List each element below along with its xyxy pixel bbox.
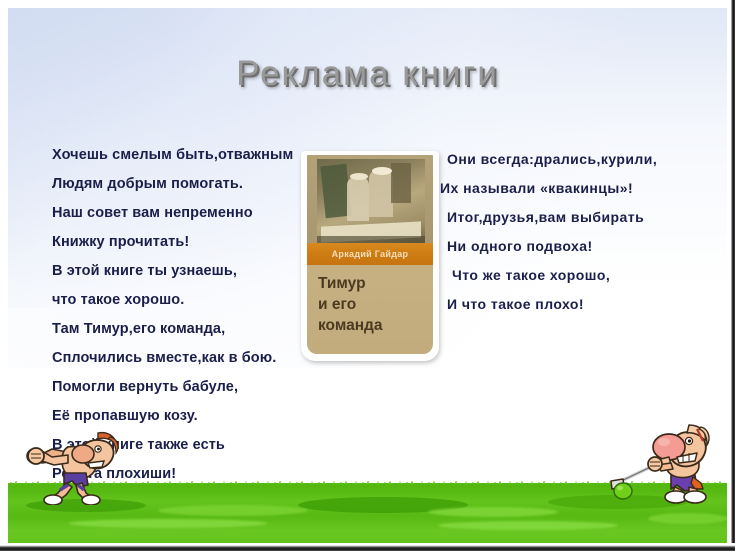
grass-patch — [68, 519, 268, 528]
book-cover-illustration — [307, 155, 433, 248]
poem-right-column: Они всегда:дрались,курили, Их называли «… — [440, 145, 720, 319]
poem-line: Что же такое хорошо, — [440, 261, 720, 290]
book-title: Тимур и его команда — [318, 273, 430, 336]
poem-line: Сплочились вместе,как в бою. — [52, 344, 324, 373]
poem-line: И что такое плохо! — [440, 290, 720, 319]
book-title-line: команда — [318, 315, 430, 336]
poem-line: Их называли «квакинцы»! — [440, 174, 720, 203]
grass-patch — [438, 521, 618, 530]
book-title-line: и его — [318, 294, 430, 315]
poem-line: Ни одного подвоха! — [440, 232, 720, 261]
book-cover: Аркадий Гайдар Тимур и его команда — [307, 155, 433, 354]
book-author-name: Аркадий Гайдар — [332, 249, 409, 259]
poem-line: Хочешь смелым быть,отважным — [52, 141, 324, 170]
grass-patch — [428, 507, 558, 517]
slide-canvas: Реклама книги Хочешь смелым быть,отважны… — [8, 8, 727, 543]
illustration-shape — [391, 163, 411, 203]
slide-frame-right-edge — [729, 0, 735, 551]
grass-patch — [648, 513, 727, 524]
page-title: Реклама книги — [8, 54, 727, 94]
illustration-hat — [350, 173, 368, 180]
book-cover-image[interactable]: Аркадий Гайдар Тимур и его команда — [301, 151, 439, 361]
slide-frame-bottom-edge — [0, 543, 735, 551]
illustration-scene — [317, 159, 425, 246]
slide-frame-top — [0, 0, 735, 8]
grass-patch — [158, 505, 308, 516]
poem-line: что такое хорошо. — [52, 286, 324, 315]
illustration-figure — [347, 177, 369, 221]
cartoon-golfer-icon — [597, 421, 719, 507]
poem-line: Помогли вернуть бабуле, — [52, 373, 324, 402]
poem-line: Наш совет вам непременно — [52, 199, 324, 228]
poem-line: В этой книге ты узнаешь, — [52, 257, 324, 286]
slide-frame-left — [0, 0, 8, 551]
poem-line: Там Тимур,его команда, — [52, 315, 324, 344]
illustration-hat — [372, 167, 392, 175]
book-author-band: Аркадий Гайдар — [307, 243, 433, 265]
illustration-figure — [369, 169, 393, 217]
slide: Реклама книги Хочешь смелым быть,отважны… — [0, 0, 735, 551]
poem-line: Людям добрым помогать. — [52, 170, 324, 199]
poem-line: Книжку прочитать! — [52, 228, 324, 257]
poem-line: Итог,друзья,вам выбирать — [440, 203, 720, 232]
book-title-line: Тимур — [318, 273, 430, 294]
cartoon-soccer-player-icon — [12, 427, 120, 505]
poem-line: Они всегда:дрались,курили, — [440, 145, 720, 174]
